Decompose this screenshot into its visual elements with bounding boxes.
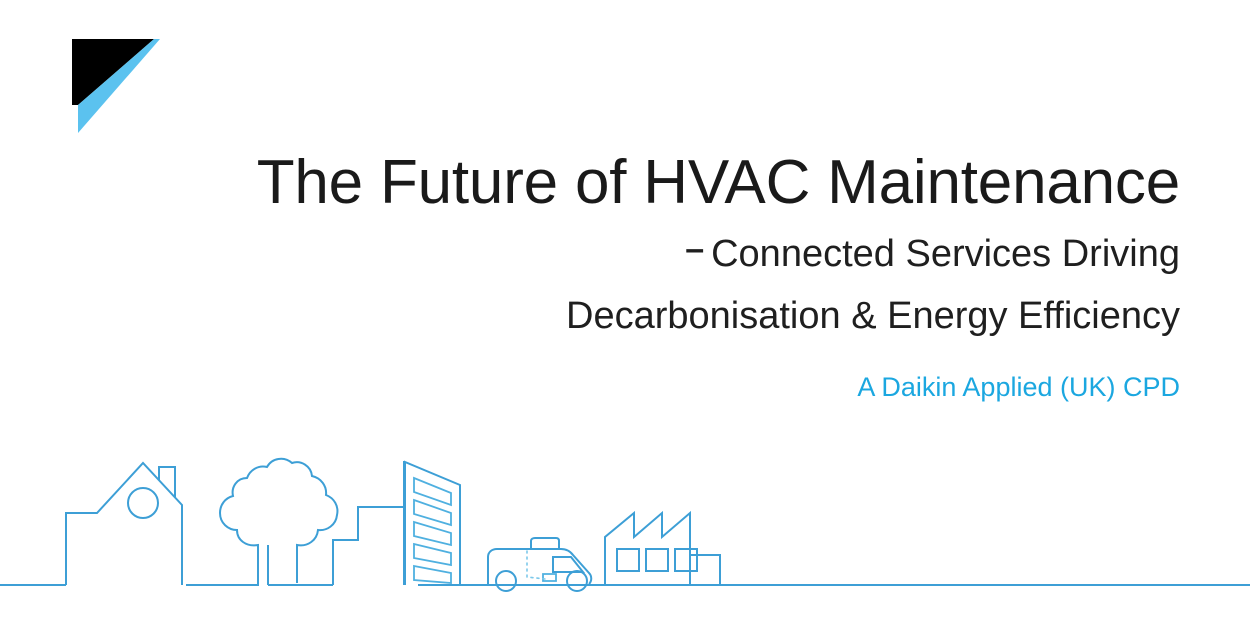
tree-canopy bbox=[220, 459, 337, 583]
title-block: The Future of HVAC Maintenance –Connecte… bbox=[180, 150, 1180, 404]
office-tower-window-row-5 bbox=[414, 566, 451, 583]
attribution-text: A Daikin Applied (UK) CPD bbox=[180, 371, 1180, 403]
office-tower-window-row-3 bbox=[414, 522, 451, 545]
factory-window-2 bbox=[646, 549, 668, 571]
house-round-window-icon bbox=[128, 488, 158, 518]
van-front-wheel-icon bbox=[496, 571, 516, 591]
factory-window-1 bbox=[617, 549, 639, 571]
van-roof-light-icon bbox=[531, 538, 559, 549]
office-tower-window-row-1 bbox=[414, 478, 451, 505]
van-rear-wheel-icon bbox=[567, 571, 587, 591]
factory-window-3 bbox=[675, 549, 697, 571]
subtitle-line-2: Decarbonisation & Energy Efficiency bbox=[180, 294, 1180, 340]
title-slide: The Future of HVAC Maintenance –Connecte… bbox=[0, 0, 1250, 625]
subtitle-line-1-text: Connected Services Driving bbox=[711, 233, 1180, 275]
van-door-handle bbox=[543, 574, 556, 581]
subtitle-line-1: –Connected Services Driving bbox=[180, 229, 1180, 278]
skyline-illustration bbox=[0, 445, 1250, 625]
van-windscreen bbox=[553, 557, 583, 572]
house-outline bbox=[66, 463, 182, 585]
service-van-body bbox=[488, 549, 591, 584]
subtitle-dash: – bbox=[685, 230, 703, 268]
low-building-outline bbox=[333, 507, 404, 585]
page-title: The Future of HVAC Maintenance bbox=[180, 150, 1180, 217]
office-tower-window-row-4 bbox=[414, 544, 451, 565]
logo-black-triangle bbox=[72, 39, 154, 105]
daikin-applied-triangle-logo bbox=[66, 33, 160, 139]
